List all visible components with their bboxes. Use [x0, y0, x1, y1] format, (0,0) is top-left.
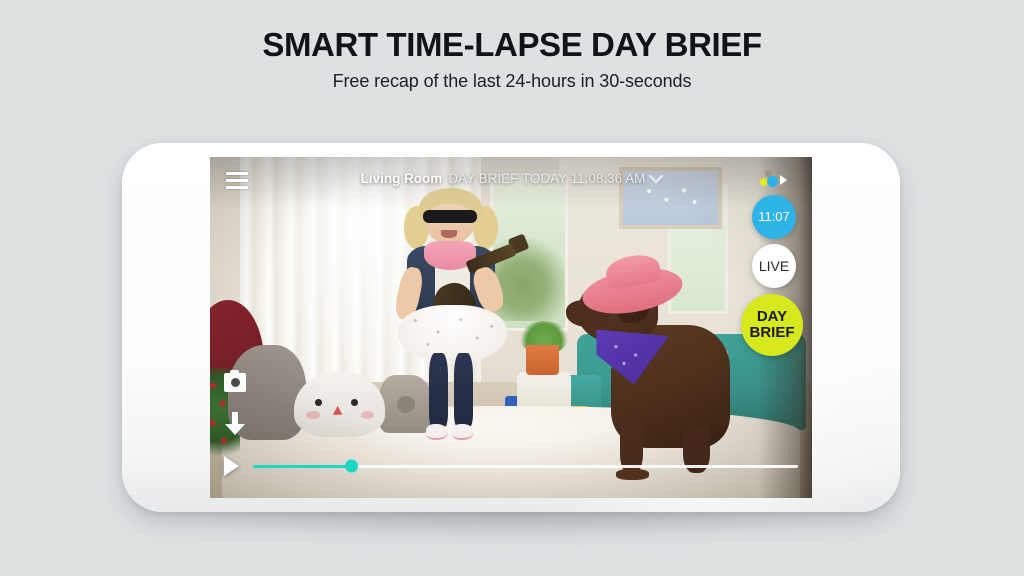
play-icon[interactable] — [224, 456, 239, 476]
event-thumbnail-button[interactable] — [758, 169, 784, 189]
download-arrow-icon[interactable] — [224, 412, 246, 438]
camera-name: Living Room — [361, 171, 443, 186]
live-button[interactable]: LIVE — [752, 244, 796, 288]
day-brief-label-line2: BRIEF — [750, 325, 795, 341]
download-head — [225, 424, 245, 435]
day-brief-button[interactable]: DAY BRIEF — [741, 294, 803, 356]
phone-screen: Living Room DAY BRIEF TODAY 11:08:36 AM … — [210, 157, 812, 498]
page-root: SMART TIME-LAPSE DAY BRIEF Free recap of… — [0, 0, 1024, 576]
progress-fill — [253, 465, 351, 468]
progress-knob[interactable] — [345, 460, 358, 473]
day-brief-label: DAY BRIEF — [750, 309, 795, 341]
camera-mode-time: DAY BRIEF TODAY 11:08:36 AM — [448, 171, 645, 186]
page-subtitle: Free recap of the last 24-hours in 30-se… — [0, 71, 1024, 92]
progress-track[interactable] — [253, 465, 798, 468]
camera-header[interactable]: Living Room DAY BRIEF TODAY 11:08:36 AM — [210, 171, 812, 186]
page-title: SMART TIME-LAPSE DAY BRIEF — [0, 26, 1024, 64]
timestamp-button[interactable]: 11:07 — [752, 195, 796, 239]
side-tools — [224, 373, 246, 438]
transport-bar — [224, 456, 798, 476]
camera-icon[interactable] — [224, 373, 246, 392]
camera-lens-icon — [231, 378, 240, 387]
chevron-down-icon[interactable] — [649, 169, 663, 183]
hamburger-bar — [226, 186, 248, 189]
live-label: LIVE — [759, 259, 789, 274]
player-overlay: Living Room DAY BRIEF TODAY 11:08:36 AM … — [210, 157, 812, 498]
timestamp-label: 11:07 — [758, 210, 790, 224]
play-small-icon — [780, 175, 787, 185]
day-brief-label-line1: DAY — [750, 309, 795, 325]
color-dot-cyan-icon — [767, 176, 778, 187]
